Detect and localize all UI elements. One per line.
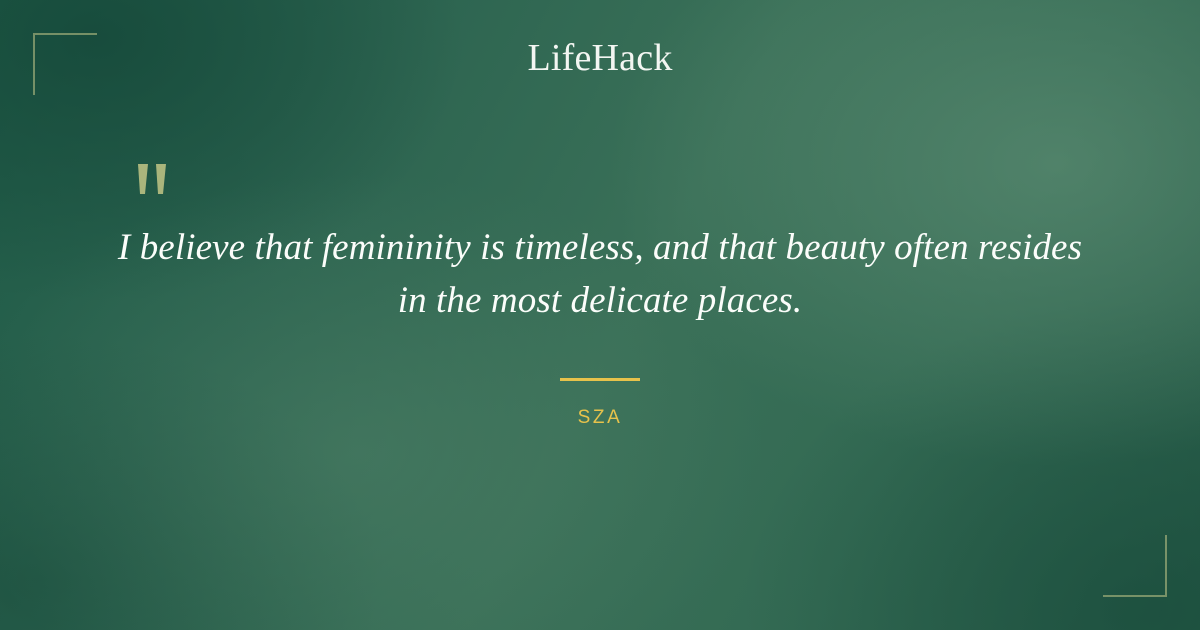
quote-line-1: I believe that femininity is timeless, a… bbox=[118, 227, 969, 268]
brand-logo-label: LifeHack bbox=[527, 37, 672, 79]
brand-logo: LifeHack bbox=[0, 38, 1200, 80]
attribution: SZA bbox=[0, 378, 1200, 429]
corner-bracket-icon-bottom-right bbox=[1103, 535, 1167, 597]
attribution-author: SZA bbox=[0, 407, 1200, 429]
quote-card: LifeHack I believe that femininity is ti… bbox=[0, 0, 1200, 630]
quote-text: I believe that femininity is timeless, a… bbox=[100, 222, 1100, 327]
quote-block: I believe that femininity is timeless, a… bbox=[100, 160, 1100, 327]
quotation-mark-icon bbox=[132, 160, 178, 206]
attribution-divider bbox=[560, 378, 640, 381]
